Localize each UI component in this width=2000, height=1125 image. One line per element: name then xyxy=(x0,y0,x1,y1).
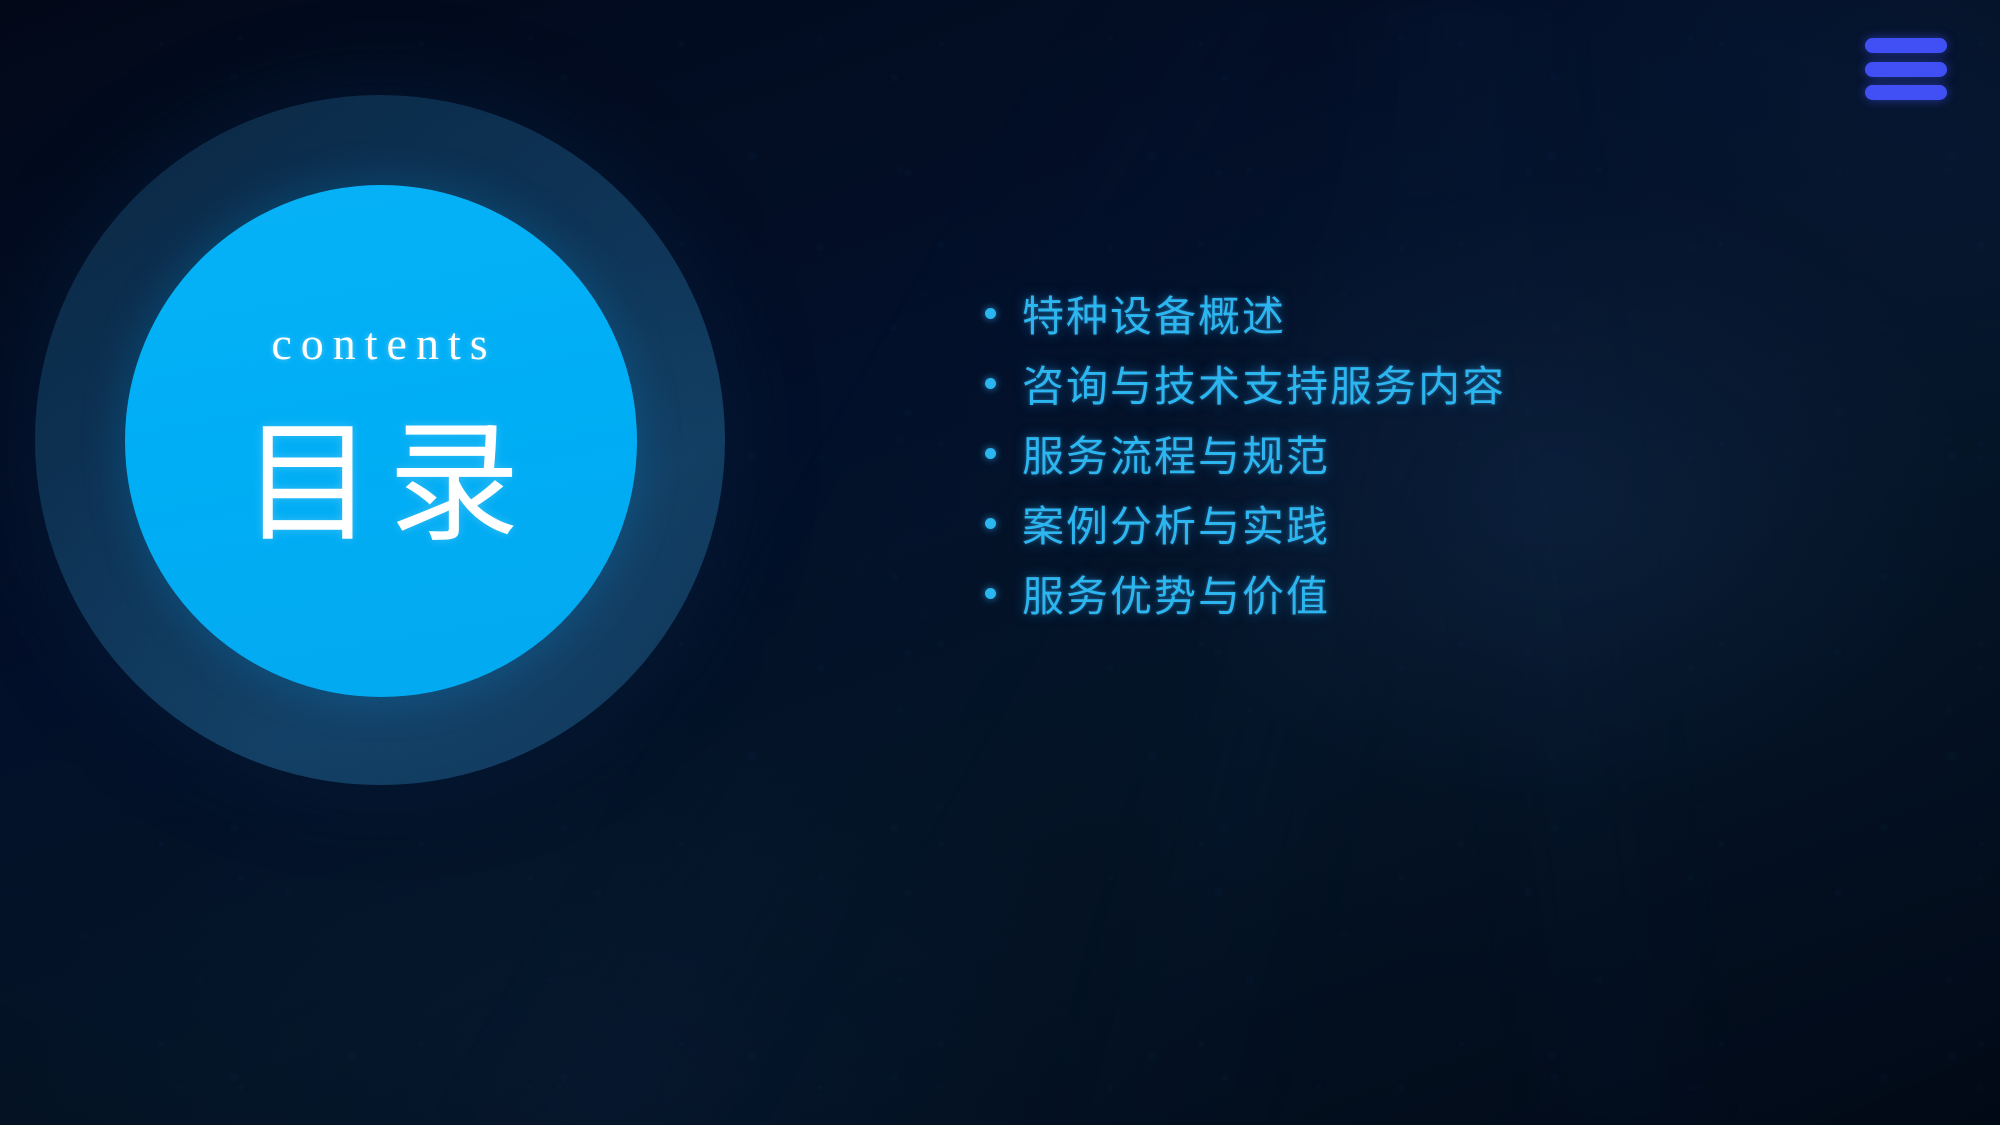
contents-eyebrow-label: contents xyxy=(271,321,496,367)
toc-item-label: 服务流程与规范 xyxy=(1022,423,1330,484)
hamburger-menu-icon[interactable] xyxy=(1865,38,1947,100)
toc-item-label: 服务优势与价值 xyxy=(1022,563,1330,624)
hamburger-bar-middle xyxy=(1865,62,1947,77)
bullet-dot-icon xyxy=(985,588,996,599)
bullet-dot-icon xyxy=(985,448,996,459)
contents-title: 目录 xyxy=(242,419,534,551)
toc-item-label: 特种设备概述 xyxy=(1022,283,1286,344)
toc-item-label: 案例分析与实践 xyxy=(1022,493,1330,554)
toc-item-4[interactable]: 案例分析与实践 xyxy=(985,488,1805,558)
bullet-dot-icon xyxy=(985,308,996,319)
toc-item-2[interactable]: 咨询与技术支持服务内容 xyxy=(985,348,1805,418)
contents-circle: contents 目录 xyxy=(125,185,637,697)
hamburger-bar-top xyxy=(1865,38,1947,53)
bullet-dot-icon xyxy=(985,378,996,389)
toc-item-label: 咨询与技术支持服务内容 xyxy=(1022,353,1506,414)
presentation-slide: contents 目录 特种设备概述 咨询与技术支持服务内容 服务流程与规范 案… xyxy=(0,0,2000,1125)
table-of-contents-list: 特种设备概述 咨询与技术支持服务内容 服务流程与规范 案例分析与实践 服务优势与… xyxy=(985,278,1805,628)
bullet-dot-icon xyxy=(985,518,996,529)
hamburger-bar-bottom xyxy=(1865,85,1947,100)
toc-item-5[interactable]: 服务优势与价值 xyxy=(985,558,1805,628)
toc-item-1[interactable]: 特种设备概述 xyxy=(985,278,1805,348)
toc-item-3[interactable]: 服务流程与规范 xyxy=(985,418,1805,488)
